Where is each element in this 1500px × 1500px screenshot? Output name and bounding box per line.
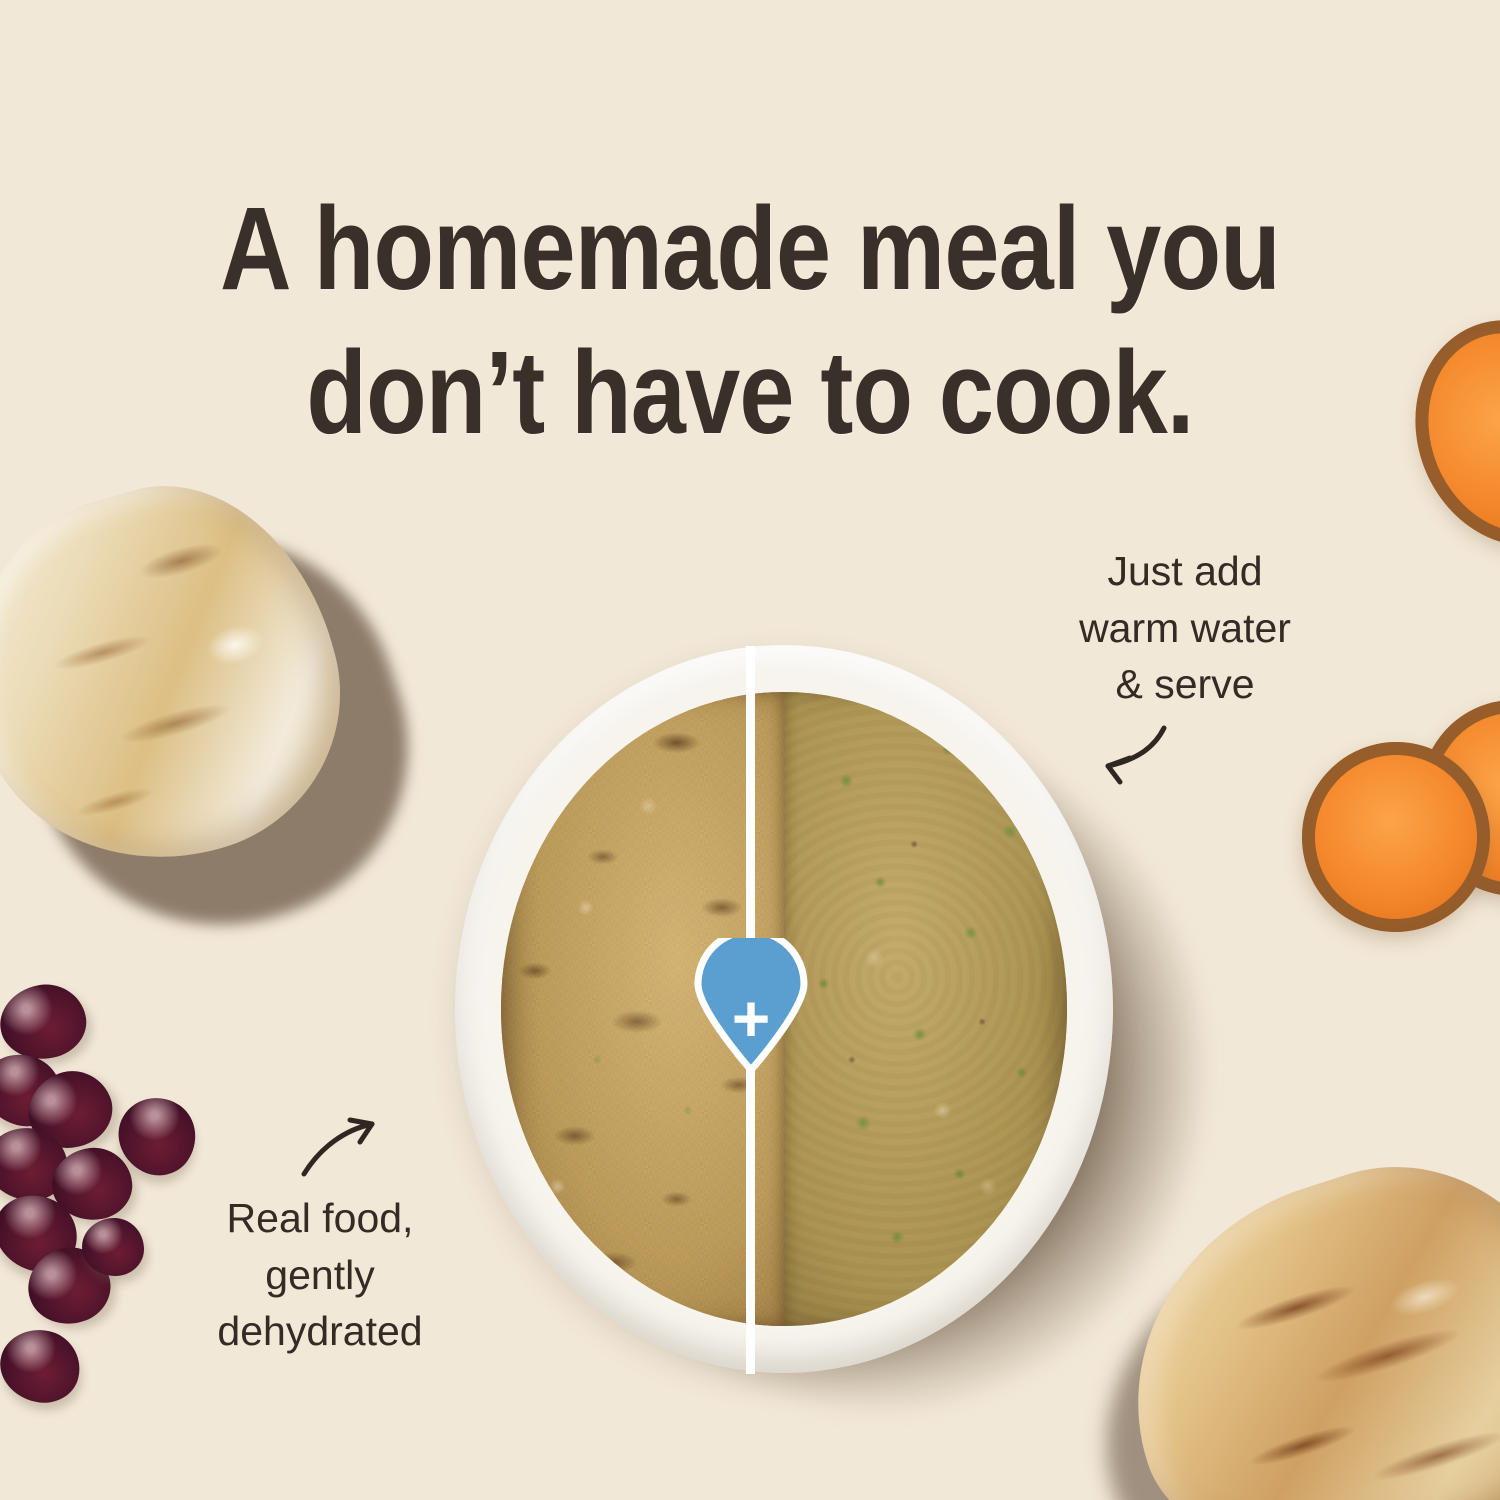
annotation-real-food-gently-dehydrated: Real food, gently dehydrated	[155, 1190, 485, 1360]
curved-arrow-down-left-icon	[1078, 706, 1208, 796]
water-drop-plus-icon: +	[694, 938, 808, 1072]
rehydrated-meal-half	[784, 692, 1067, 1327]
product-marketing-image: A homemade meal you don’t have to cook. …	[0, 0, 1500, 1500]
dried-cranberry	[82, 1218, 144, 1276]
dried-cranberry	[0, 1322, 87, 1409]
sweet-potato-slice-top	[1382, 290, 1500, 577]
page-title: A homemade meal you don’t have to cook.	[120, 178, 1380, 466]
dried-cranberry	[0, 977, 93, 1067]
annotation-just-add-warm-water: Just add warm water & serve	[1025, 543, 1345, 713]
plus-symbol: +	[694, 972, 808, 1064]
curved-arrow-up-right-icon	[296, 1104, 426, 1194]
